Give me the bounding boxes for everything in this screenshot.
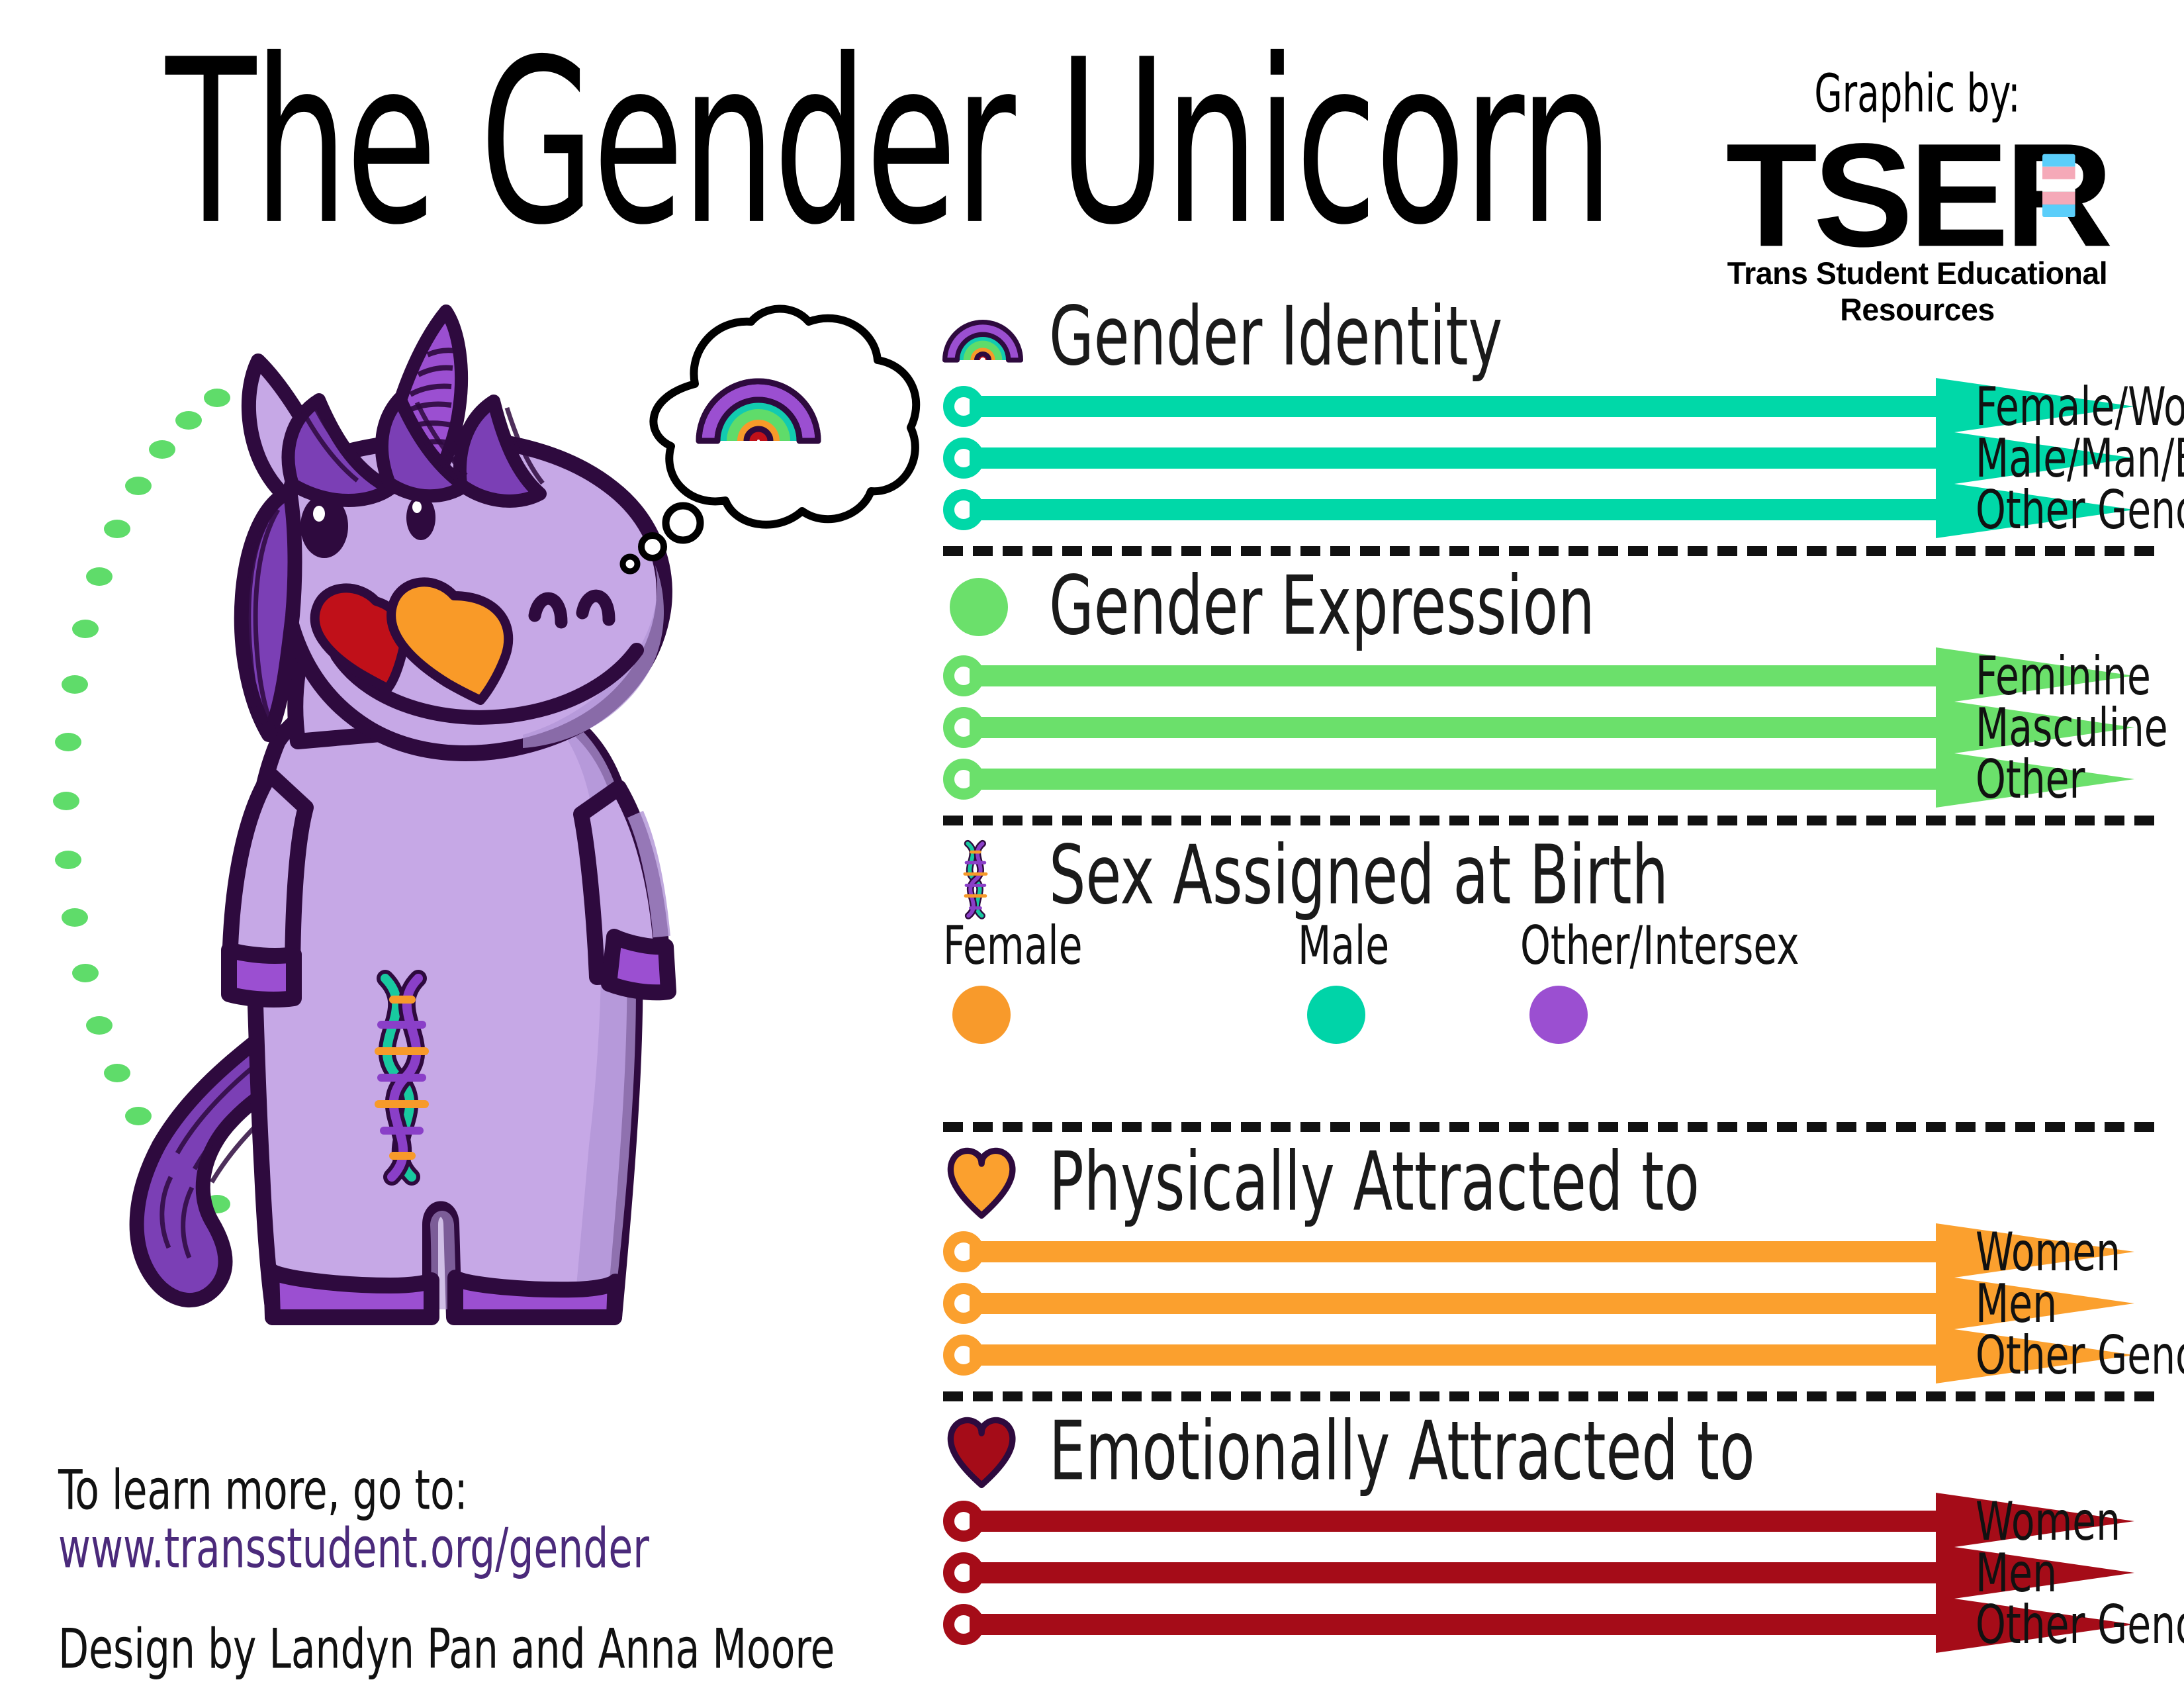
section-title: Gender Identity — [1049, 296, 1502, 379]
green-circle-icon — [943, 571, 1023, 643]
tser-wordmark: TSER — [1726, 123, 2109, 267]
section-header: Gender Identity — [943, 301, 2154, 381]
sab-option-label: Male — [1298, 919, 1399, 971]
sab-option-dot[interactable] — [1529, 986, 1588, 1044]
sab-option-label: Other/Intersex — [1520, 919, 1830, 971]
tser-logo-block: Graphic by: TSER Trans Student Education… — [1689, 66, 2146, 328]
spectrum-row[interactable]: Women — [943, 1226, 2154, 1278]
spectrum-row[interactable]: Other Gender(s) — [943, 1599, 2154, 1650]
section-gender-identity: Gender IdentityFemale/Woman/GirlMale/Man… — [943, 301, 2154, 536]
thought-bubble — [615, 305, 927, 583]
spectrum-sections: Gender IdentityFemale/Woman/GirlMale/Man… — [943, 301, 2154, 1650]
spectrum-row[interactable]: Female/Woman/Girl — [943, 381, 2154, 432]
spectrum-rows: FeminineMasculineOther — [943, 650, 2154, 805]
orange-heart-icon — [943, 1147, 1023, 1219]
section-divider — [943, 1391, 2154, 1401]
spectrum-row[interactable]: Feminine — [943, 650, 2154, 702]
spectrum-label: Women — [1976, 1227, 2137, 1276]
section-sex-assigned-at-birth: Sex Assigned at BirthFemaleMaleOther/Int… — [943, 840, 2154, 1111]
spectrum-row[interactable]: Women — [943, 1495, 2154, 1547]
spectrum-shaft — [970, 499, 1936, 520]
section-header: Sex Assigned at Birth — [943, 840, 2154, 919]
section-header: Emotionally Attracted to — [943, 1416, 2154, 1495]
sex-assigned-options: FemaleMaleOther/Intersex — [943, 919, 2154, 1111]
section-title: Sex Assigned at Birth — [1049, 835, 1668, 917]
spectrum-shaft — [970, 396, 1936, 417]
spectrum-label: Men — [1976, 1548, 2066, 1597]
spectrum-label: Male/Man/Boy — [1976, 434, 2184, 483]
section-title: Emotionally Attracted to — [1049, 1411, 1754, 1493]
spectrum-rows: Female/Woman/GirlMale/Man/BoyOther Gende… — [943, 381, 2154, 536]
spectrum-shaft — [970, 717, 1936, 738]
design-credit: Design by Landyn Pan and Anna Moore — [58, 1615, 921, 1676]
transstudent-url-link[interactable]: www.transstudent.org/gender — [58, 1515, 715, 1575]
spectrum-rows: WomenMenOther Gender(s) — [943, 1226, 2154, 1381]
sab-option-dot[interactable] — [1307, 986, 1365, 1044]
spectrum-shaft — [970, 665, 1936, 686]
dna-icon — [943, 840, 1023, 913]
spectrum-label: Other Gender(s) — [1976, 485, 2184, 534]
spectrum-shaft — [970, 769, 1936, 790]
section-header: Physically Attracted to — [943, 1147, 2154, 1226]
spectrum-label: Other Gender(s) — [1976, 1331, 2184, 1380]
spectrum-label: Female/Woman/Girl — [1976, 382, 2184, 431]
spectrum-row[interactable]: Masculine — [943, 702, 2154, 753]
spectrum-label: Other Gender(s) — [1976, 1600, 2184, 1649]
spectrum-shaft — [970, 1241, 1936, 1262]
spectrum-label: Women — [1976, 1497, 2137, 1546]
section-divider — [943, 1122, 2154, 1132]
spectrum-shaft — [970, 1562, 1936, 1583]
section-gender-expression: Gender ExpressionFeminineMasculineOther — [943, 571, 2154, 805]
spectrum-row[interactable]: Other — [943, 753, 2154, 805]
spectrum-rows: WomenMenOther Gender(s) — [943, 1495, 2154, 1650]
section-title: Gender Expression — [1049, 565, 1595, 648]
spectrum-row[interactable]: Men — [943, 1547, 2154, 1599]
section-header: Gender Expression — [943, 571, 2154, 650]
spectrum-label: Feminine — [1976, 651, 2170, 700]
spectrum-shaft — [970, 1293, 1936, 1314]
spectrum-label: Men — [1976, 1279, 2066, 1328]
section-physically-attracted-to: Physically Attracted toWomenMenOther Gen… — [943, 1147, 2154, 1381]
spectrum-shaft — [970, 1344, 1936, 1366]
sab-option[interactable]: Male — [1298, 919, 1399, 1044]
sab-option[interactable]: Female — [943, 919, 1098, 1044]
section-divider — [943, 816, 2154, 825]
trans-flag-icon — [2042, 154, 2075, 217]
sab-option-label: Female — [943, 919, 1098, 971]
spectrum-row[interactable]: Other Gender(s) — [943, 1329, 2154, 1381]
spectrum-shaft — [970, 447, 1936, 469]
spectrum-label: Other — [1976, 755, 2097, 804]
spectrum-label: Masculine — [1976, 703, 2184, 752]
unicorn-body — [252, 685, 636, 1317]
rainbow-icon — [943, 301, 1023, 374]
red-heart-icon — [943, 1416, 1023, 1489]
section-title: Physically Attracted to — [1049, 1141, 1700, 1224]
spectrum-row[interactable]: Male/Man/Boy — [943, 432, 2154, 484]
spectrum-row[interactable]: Other Gender(s) — [943, 484, 2154, 536]
section-emotionally-attracted-to: Emotionally Attracted toWomenMenOther Ge… — [943, 1416, 2154, 1650]
section-divider — [943, 546, 2154, 556]
sab-option[interactable]: Other/Intersex — [1520, 919, 1830, 1044]
sab-option-dot[interactable] — [952, 986, 1011, 1044]
spectrum-shaft — [970, 1511, 1936, 1532]
learn-more-label: To learn more, go to: — [58, 1456, 514, 1517]
spectrum-shaft — [970, 1614, 1936, 1635]
spectrum-row[interactable]: Men — [943, 1278, 2154, 1329]
